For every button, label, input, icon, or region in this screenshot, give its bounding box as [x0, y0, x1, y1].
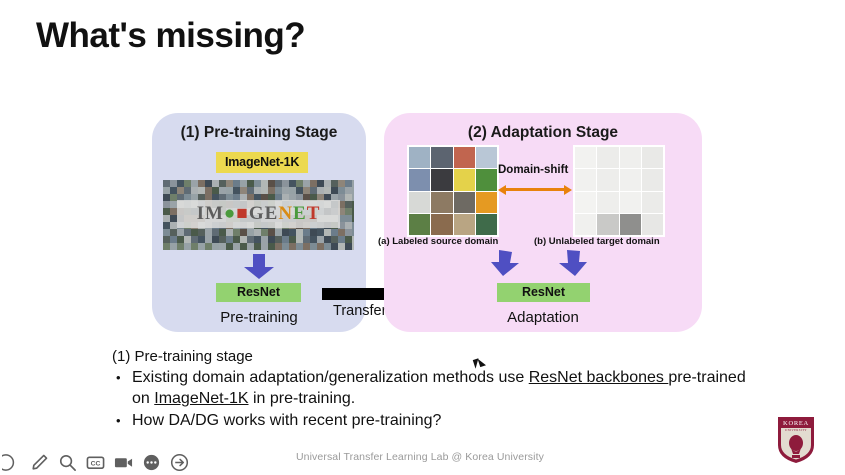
video-camera-icon[interactable]	[114, 453, 133, 472]
grid-cell	[575, 192, 596, 213]
domain-shift-arrow-head-right	[564, 185, 572, 195]
grid-cell	[431, 192, 452, 213]
grid-cell	[409, 192, 430, 213]
target-domain-label: (b) Unlabeled target domain	[534, 236, 660, 247]
grid-cell	[642, 147, 663, 168]
domain-shift-label: Domain-shift	[498, 164, 568, 176]
korea-logo-secondary-text: UNIVERSITY	[785, 428, 807, 432]
record-icon[interactable]	[2, 453, 21, 472]
emphasized-term: ResNet backbones	[529, 369, 669, 386]
korea-university-logo: KOREA UNIVERSITY	[775, 415, 817, 465]
grid-cell	[620, 192, 641, 213]
next-arrow-icon[interactable]	[170, 453, 189, 472]
grid-cell	[476, 169, 497, 190]
grid-cell	[409, 169, 430, 190]
grid-cell	[620, 214, 641, 235]
source-domain-image-grid	[407, 145, 499, 237]
bullet-item: How DA/DG works with recent pre-training…	[112, 410, 762, 431]
domain-shift-arrow-head-left	[498, 185, 506, 195]
grid-cell	[409, 214, 430, 235]
search-icon[interactable]	[58, 453, 77, 472]
imagenet-mosaic-image: IM●■GENET	[163, 180, 354, 250]
grid-cell	[431, 214, 452, 235]
bullet-list: Existing domain adaptation/generalizatio…	[112, 367, 762, 431]
bullet-text: in pre-training.	[249, 390, 356, 407]
grid-cell	[642, 214, 663, 235]
grid-cell	[642, 192, 663, 213]
korea-logo-primary-text: KOREA	[783, 420, 809, 427]
video-player-toolbar[interactable]: CC	[0, 449, 302, 475]
lab-credit-text: Universal Transfer Learning Lab @ Korea …	[296, 451, 544, 463]
grid-cell	[454, 214, 475, 235]
grid-cell	[597, 147, 618, 168]
target-domain-image-grid	[573, 145, 665, 237]
more-options-icon[interactable]	[142, 453, 161, 472]
source-to-resnet-arrow-icon	[491, 250, 521, 277]
resnet-box-pretraining: ResNet	[216, 283, 301, 302]
emphasized-term: ImageNet-1K	[154, 390, 248, 407]
grid-cell	[431, 147, 452, 168]
adaptation-stage-heading: (2) Adaptation Stage	[384, 124, 702, 142]
source-domain-label: (a) Labeled source domain	[378, 236, 498, 247]
grid-cell	[476, 214, 497, 235]
grid-cell	[575, 214, 596, 235]
svg-text:CC: CC	[91, 460, 101, 467]
page-title: What's missing?	[36, 16, 305, 56]
grid-cell	[620, 169, 641, 190]
grid-cell	[454, 192, 475, 213]
grid-cell	[620, 147, 641, 168]
imagenet-dataset-tag: ImageNet-1K	[216, 152, 308, 173]
domain-shift-arrow-shaft	[505, 188, 565, 191]
grid-cell	[597, 169, 618, 190]
grid-cell	[476, 192, 497, 213]
body-text-block: (1) Pre-training stage Existing domain a…	[112, 347, 762, 431]
grid-cell	[575, 147, 596, 168]
pencil-icon[interactable]	[30, 453, 49, 472]
bullet-item: Existing domain adaptation/generalizatio…	[112, 367, 762, 409]
grid-cell	[642, 169, 663, 190]
closed-caption-icon[interactable]: CC	[86, 453, 105, 472]
imagenet-wordmark: IM●■GENET	[163, 203, 354, 225]
grid-cell	[431, 169, 452, 190]
bullet-text: How DA/DG works with recent pre-training…	[132, 412, 441, 429]
pre-training-stage-heading: (1) Pre-training Stage	[152, 124, 366, 142]
transfer-label: Transfer	[333, 303, 386, 319]
grid-cell	[409, 147, 430, 168]
grid-cell	[575, 169, 596, 190]
adaptation-caption: Adaptation	[384, 309, 702, 326]
resnet-box-adaptation: ResNet	[497, 283, 590, 302]
body-heading: (1) Pre-training stage	[112, 347, 762, 366]
bullet-text: Existing domain adaptation/generalizatio…	[132, 369, 529, 386]
grid-cell	[597, 192, 618, 213]
slide-canvas: What's missing? (1) Pre-training Stage I…	[0, 0, 845, 475]
grid-cell	[597, 214, 618, 235]
target-to-resnet-arrow-icon	[558, 250, 588, 277]
grid-cell	[476, 147, 497, 168]
pretraining-down-arrow-icon	[243, 254, 275, 280]
grid-cell	[454, 147, 475, 168]
grid-cell	[454, 169, 475, 190]
